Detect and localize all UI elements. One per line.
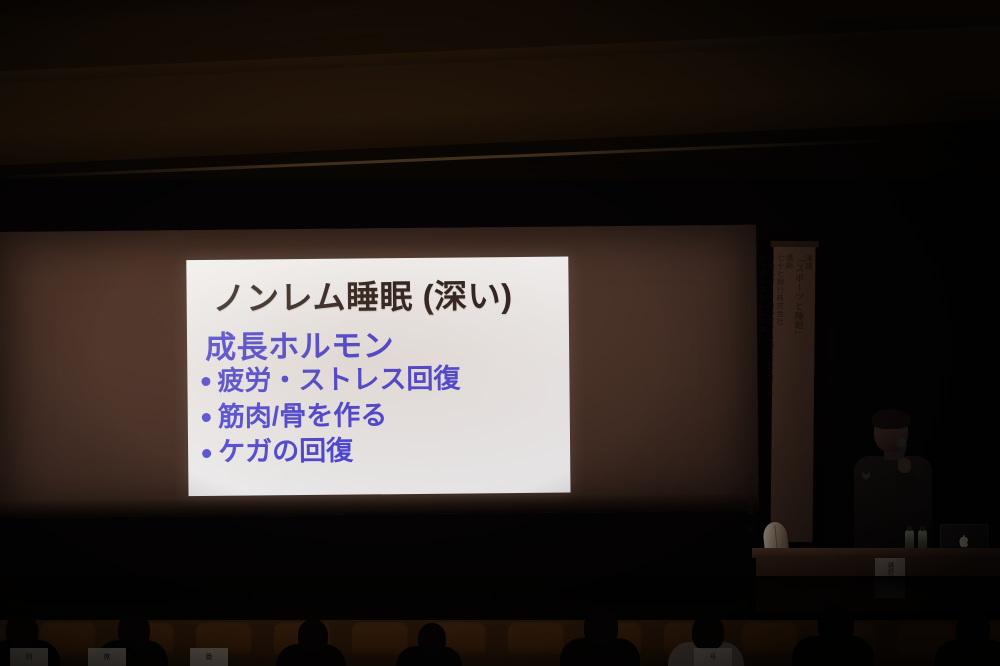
lecture-hall-photo: ノンレム睡眠 (深い) 成長ホルモン 疲労・ストレス回復 筋肉/骨を作る ケガの… (0, 0, 1000, 666)
microphone-head-icon (897, 438, 906, 447)
seat-placard: 号 (694, 648, 732, 666)
presentation-slide: ノンレム睡眠 (深い) 成長ホルモン 疲労・ストレス回復 筋肉/骨を作る ケガの… (186, 257, 570, 497)
slide-bullet-list: 疲労・ストレス回復 筋肉/骨を作る ケガの回復 (201, 362, 461, 471)
banner-text-columns: 演題 「スポーツと睡眠」 講師 七十七銀行株式会社 リカバリー・コンディショニン… (770, 246, 815, 542)
presenter-hair (872, 409, 910, 429)
bullet-dot-icon (202, 449, 211, 458)
projection-screen: ノンレム睡眠 (深い) 成長ホルモン 疲労・ストレス回復 筋肉/骨を作る ケガの… (0, 225, 759, 518)
theater-seat (508, 622, 566, 656)
audience-head (118, 612, 150, 648)
seat-placard: 列 (10, 648, 48, 666)
slide-bullet-text: ケガの回復 (218, 434, 353, 471)
bullet-dot-icon (202, 413, 211, 422)
presenter-hand (898, 458, 911, 473)
slide-bullet-item: ケガの回復 (202, 433, 461, 471)
theater-seat (742, 622, 800, 656)
slide-bullet-item: 筋肉/骨を作る (202, 397, 461, 435)
slide-bullet-text: 疲労・ストレス回復 (217, 362, 460, 400)
banner-speaker-name: 森井 祐幸 氏 (746, 472, 755, 534)
audience-head (6, 613, 38, 648)
bullet-dot-icon (201, 377, 210, 386)
audience-head (692, 614, 724, 650)
event-banner: 演題 「スポーツと睡眠」 講師 七十七銀行株式会社 リカバリー・コンディショニン… (770, 246, 815, 542)
slide-bullet-item: 疲労・ストレス回復 (201, 362, 460, 400)
audience-head (584, 608, 618, 646)
slide-subtitle: 成長ホルモン (205, 320, 394, 367)
audience-head (956, 610, 990, 648)
audience-head (418, 623, 446, 654)
seat-placard: 席 (88, 648, 126, 666)
slide-title: ノンレム睡眠 (深い) (212, 269, 512, 320)
slide-bullet-text: 筋肉/骨を作る (218, 398, 388, 435)
seat-placard: 番 (190, 648, 228, 666)
audience-head (818, 604, 854, 644)
audience-head (298, 619, 328, 652)
audience-area: 列 席 番 号 (0, 576, 1000, 666)
